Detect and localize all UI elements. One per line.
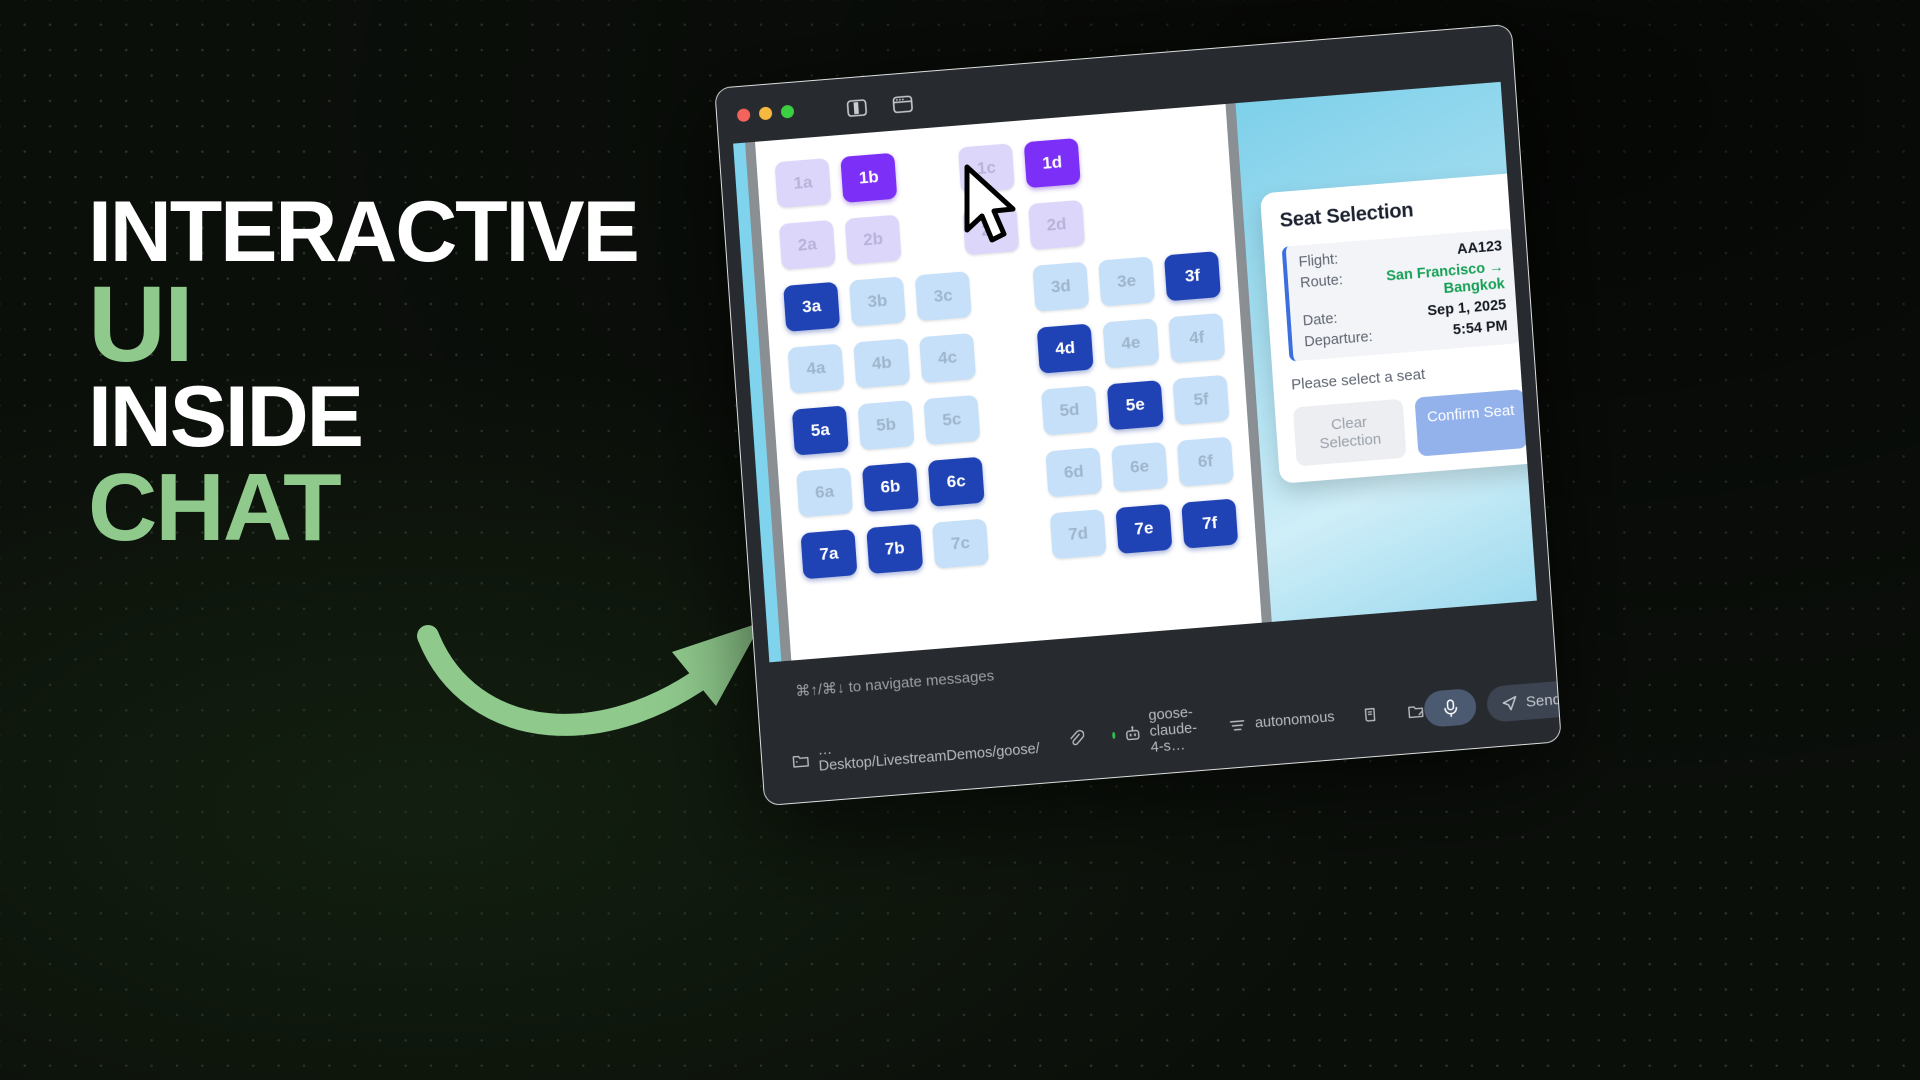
toolbar-divider bbox=[1052, 729, 1054, 751]
seat-4a[interactable]: 4a bbox=[787, 344, 844, 394]
status-online-indicator bbox=[1112, 731, 1115, 738]
maximize-button[interactable] bbox=[781, 105, 795, 119]
aisle bbox=[986, 351, 1038, 355]
info-label: Route: bbox=[1300, 272, 1344, 291]
send-button[interactable]: Send bbox=[1486, 680, 1562, 723]
mouse-cursor bbox=[963, 164, 1021, 250]
aisle bbox=[991, 413, 1043, 417]
app-window: 1a1b1c1d2a2b2c2d3a3b3c3d3e3f4a4b4c4d4e4f… bbox=[714, 24, 1562, 806]
info-value: 5:54 PM bbox=[1453, 318, 1509, 338]
seat-7a[interactable]: 7a bbox=[800, 529, 857, 579]
seat-1d[interactable]: 1d bbox=[1024, 138, 1081, 188]
headline-line-2: UI bbox=[88, 278, 638, 371]
seat-4b[interactable]: 4b bbox=[853, 338, 910, 388]
seat-6f[interactable]: 6f bbox=[1177, 437, 1234, 487]
promo-canvas: INTERACTIVE UI INSIDE CHAT bbox=[0, 0, 1920, 1080]
microphone-icon bbox=[1441, 698, 1459, 718]
seat-7d[interactable]: 7d bbox=[1050, 509, 1107, 559]
seat-6d[interactable]: 6d bbox=[1045, 447, 1102, 497]
seat-1b[interactable]: 1b bbox=[840, 153, 897, 203]
mode-selector[interactable]: autonomous bbox=[1229, 709, 1336, 734]
seat-7f[interactable]: 7f bbox=[1181, 498, 1238, 548]
seat-2a[interactable]: 2a bbox=[779, 220, 836, 270]
headline-line-3: INSIDE bbox=[88, 381, 638, 455]
send-label: Send bbox=[1525, 691, 1561, 711]
microphone-button[interactable] bbox=[1423, 688, 1477, 728]
seat-3a[interactable]: 3a bbox=[783, 282, 840, 332]
navigation-hint: ⌘↑/⌘↓ to navigate messages bbox=[795, 666, 995, 700]
sliders-icon bbox=[1229, 716, 1247, 734]
seat-7c[interactable]: 7c bbox=[932, 519, 989, 569]
seat-6c[interactable]: 6c bbox=[928, 457, 985, 507]
seat-3c[interactable]: 3c bbox=[915, 271, 972, 321]
minimize-button[interactable] bbox=[759, 106, 773, 120]
seat-2d[interactable]: 2d bbox=[1028, 200, 1085, 250]
seat-selection-card: Seat Selection Flight:AA123Route:San Fra… bbox=[1260, 172, 1537, 484]
seat-6b[interactable]: 6b bbox=[862, 462, 919, 512]
clear-selection-button[interactable]: Clear Selection bbox=[1293, 399, 1407, 466]
info-label: Departure: bbox=[1304, 329, 1373, 350]
robot-icon bbox=[1123, 724, 1141, 742]
seat-1a[interactable]: 1a bbox=[775, 158, 832, 208]
info-label: Date: bbox=[1302, 311, 1338, 330]
seat-6a[interactable]: 6a bbox=[796, 467, 853, 517]
card-title: Seat Selection bbox=[1279, 191, 1512, 233]
seat-info-pane: Seat Selection Flight:AA123Route:San Fra… bbox=[1235, 82, 1536, 622]
model-selector[interactable]: goose-claude-4-s… bbox=[1110, 704, 1203, 759]
headline-line-1: INTERACTIVE bbox=[88, 196, 638, 270]
seat-3e[interactable]: 3e bbox=[1098, 256, 1155, 306]
sidebar-toggle-icon[interactable] bbox=[846, 99, 867, 118]
aisle bbox=[982, 289, 1034, 293]
model-name: goose-claude-4-s… bbox=[1148, 704, 1203, 756]
seat-5f[interactable]: 5f bbox=[1173, 375, 1230, 425]
info-label: Flight: bbox=[1298, 251, 1338, 270]
toolbar-divider-4 bbox=[1348, 705, 1350, 727]
seat-3b[interactable]: 3b bbox=[849, 276, 906, 326]
working-directory[interactable]: …Desktop/LivestreamDemos/goose/ bbox=[791, 725, 1040, 777]
attachment-icon[interactable] bbox=[1066, 729, 1084, 747]
aisle bbox=[912, 232, 964, 236]
seat-6e[interactable]: 6e bbox=[1111, 442, 1168, 492]
confirm-seat-button[interactable]: Confirm Seat bbox=[1414, 389, 1528, 456]
aisle bbox=[908, 171, 960, 175]
info-value: AA123 bbox=[1457, 238, 1503, 258]
window-pane-icon[interactable] bbox=[892, 95, 913, 114]
scroll-document-icon[interactable] bbox=[1362, 705, 1380, 723]
close-button[interactable] bbox=[737, 108, 751, 122]
chat-toolbar: …Desktop/LivestreamDemos/goose/ bbox=[791, 677, 1534, 784]
traffic-lights[interactable] bbox=[737, 105, 795, 123]
mode-label: autonomous bbox=[1254, 709, 1335, 731]
seat-3f[interactable]: 3f bbox=[1164, 251, 1221, 301]
seat-5d[interactable]: 5d bbox=[1041, 385, 1098, 435]
promo-headline: INTERACTIVE UI INSIDE CHAT bbox=[88, 196, 638, 549]
seat-4c[interactable]: 4c bbox=[919, 333, 976, 383]
seat-4f[interactable]: 4f bbox=[1168, 313, 1225, 363]
send-paper-plane-icon bbox=[1500, 694, 1518, 712]
info-value: Sep 1, 2025 bbox=[1427, 297, 1507, 319]
folder-icon bbox=[792, 751, 810, 769]
seat-5b[interactable]: 5b bbox=[858, 400, 915, 450]
interactive-seat-app[interactable]: 1a1b1c1d2a2b2c2d3a3b3c3d3e3f4a4b4c4d4e4f… bbox=[733, 82, 1537, 663]
seat-7e[interactable]: 7e bbox=[1115, 504, 1172, 554]
seat-7b[interactable]: 7b bbox=[866, 524, 923, 574]
seat-5a[interactable]: 5a bbox=[792, 405, 849, 455]
seat-3d[interactable]: 3d bbox=[1032, 262, 1089, 312]
selection-hint: Please select a seat bbox=[1291, 358, 1523, 394]
aisle bbox=[999, 536, 1051, 540]
info-value: San Francisco → Bangkok bbox=[1354, 259, 1505, 304]
working-directory-label: …Desktop/LivestreamDemos/goose/ bbox=[817, 725, 1040, 775]
seat-4e[interactable]: 4e bbox=[1102, 318, 1159, 368]
seat-5e[interactable]: 5e bbox=[1107, 380, 1164, 430]
seat-4d[interactable]: 4d bbox=[1037, 324, 1094, 374]
toolbar-divider-2 bbox=[1097, 725, 1099, 747]
folder-edit-icon[interactable] bbox=[1407, 702, 1425, 720]
flight-info-block: Flight:AA123Route:San Francisco → Bangko… bbox=[1282, 228, 1521, 362]
toolbar-divider-3 bbox=[1214, 716, 1216, 738]
seat-5c[interactable]: 5c bbox=[923, 395, 980, 445]
seat-2b[interactable]: 2b bbox=[845, 215, 902, 265]
toolbar-divider-5 bbox=[1393, 702, 1395, 724]
aisle bbox=[995, 474, 1047, 478]
